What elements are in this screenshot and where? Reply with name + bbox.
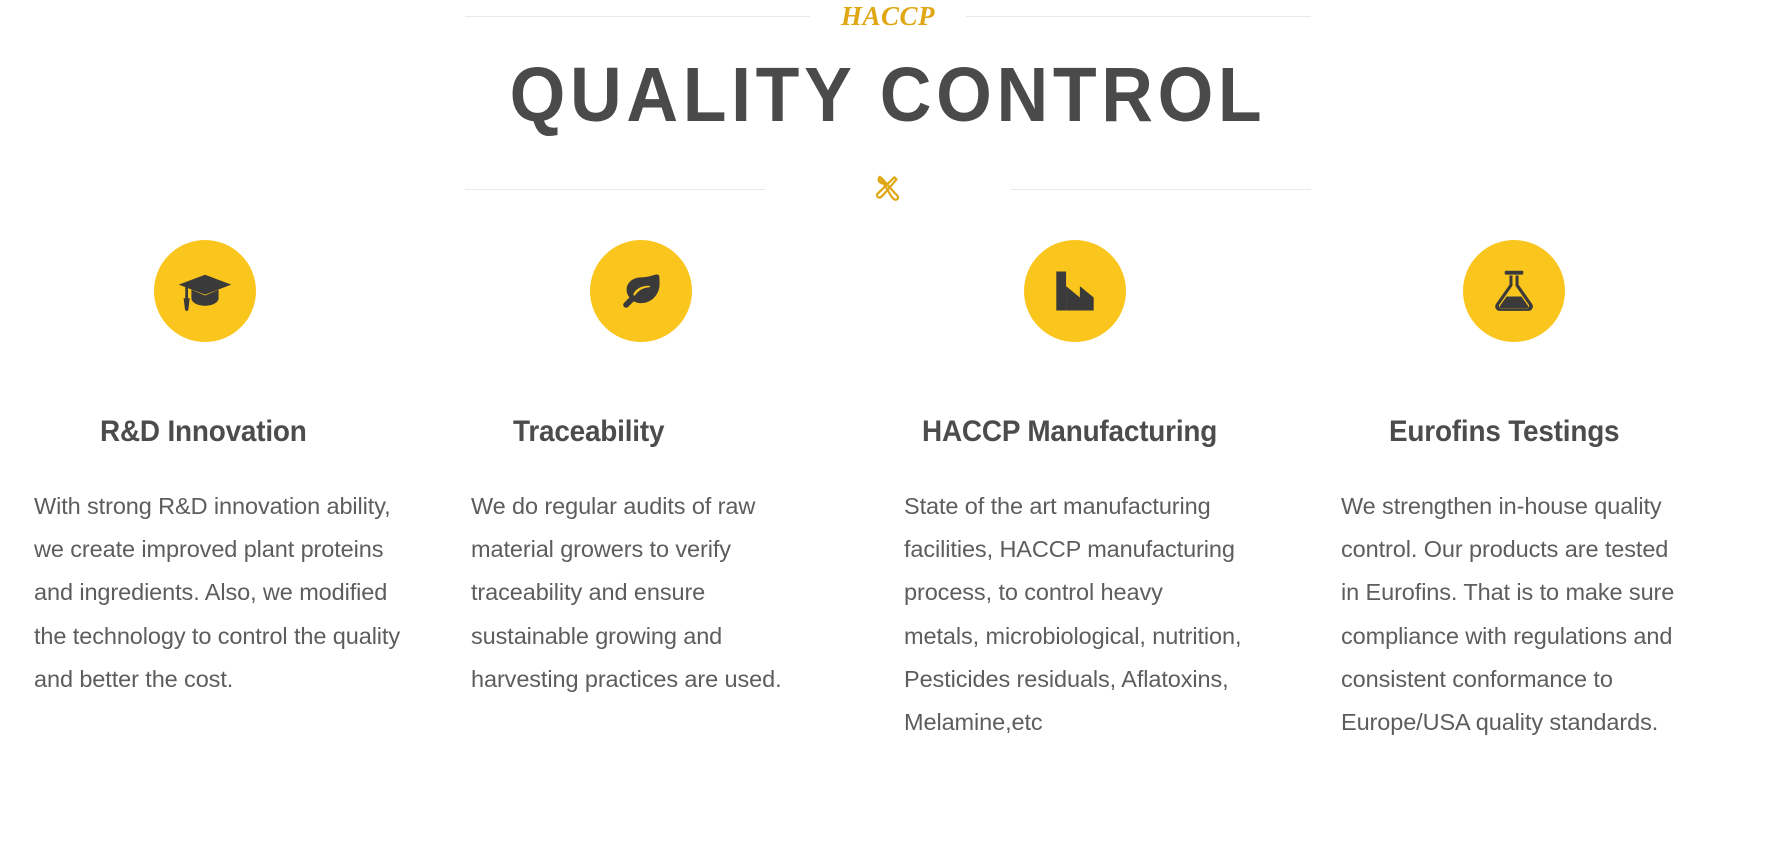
feature-title: Eurofins Testings [1389, 415, 1619, 448]
eyebrow-rule-left [465, 16, 810, 17]
feature-card-eurofins-testings: Eurofins Testings We strengthen in-house… [1327, 240, 1766, 744]
feature-body: With strong R&D innovation ability, we c… [34, 485, 404, 701]
factory-icon [1024, 240, 1126, 342]
eyebrow-label: HACCP [823, 0, 953, 32]
feature-body: State of the art manufacturing facilitie… [904, 485, 1244, 744]
fork-and-knife-icon [849, 172, 927, 206]
feature-title: Traceability [513, 415, 664, 448]
section-header: HACCP QUALITY CONTROL [0, 0, 1776, 211]
divider-rule-right [1011, 189, 1311, 190]
leaf-icon [590, 240, 692, 342]
feature-title: R&D Innovation [100, 415, 307, 448]
feature-card-rd-innovation: R&D Innovation With strong R&D innovatio… [10, 240, 449, 744]
divider-row [0, 167, 1776, 211]
feature-title: HACCP Manufacturing [922, 415, 1217, 448]
feature-columns: R&D Innovation With strong R&D innovatio… [0, 240, 1776, 744]
eyebrow-row: HACCP [0, 0, 1776, 32]
feature-card-haccp-manufacturing: HACCP Manufacturing State of the art man… [888, 240, 1327, 744]
divider-rule-left [465, 189, 765, 190]
flask-icon [1463, 240, 1565, 342]
page-title: QUALITY CONTROL [62, 50, 1714, 141]
feature-body: We do regular audits of raw material gro… [471, 485, 826, 701]
feature-body: We strengthen in-house quality control. … [1341, 485, 1681, 744]
eyebrow-rule-right [966, 16, 1311, 17]
feature-card-traceability: Traceability We do regular audits of raw… [449, 240, 888, 744]
quality-control-section: HACCP QUALITY CONTROL [0, 0, 1776, 843]
graduation-cap-icon [154, 240, 256, 342]
